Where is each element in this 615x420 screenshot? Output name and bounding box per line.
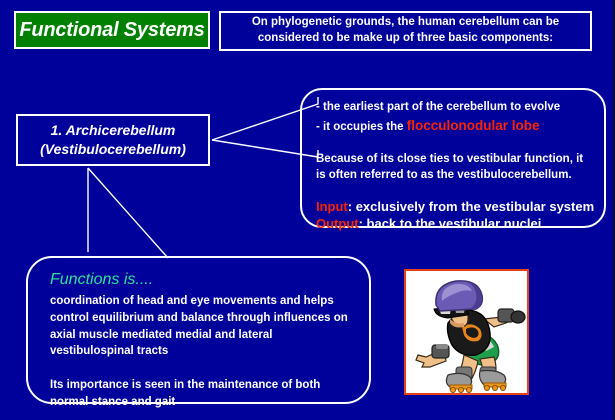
archicerebellum-box: 1. Archicerebellum (Vestibulocerebellum) <box>16 114 210 166</box>
intro-statement-text: On phylogenetic grounds, the human cereb… <box>229 15 582 46</box>
functions-heading: Functions is.... <box>50 270 355 289</box>
input-output-group: Input: exclusively from the vestibular s… <box>316 198 594 233</box>
page-title: Functional Systems <box>19 19 204 42</box>
detail-bullet-2-prefix: - it occupies the <box>316 121 407 133</box>
detail-input-line: Input: exclusively from the vestibular s… <box>316 198 594 216</box>
slide-title-box: Functional Systems <box>14 11 210 49</box>
input-label: Input <box>316 199 348 214</box>
functions-paragraph-1: coordination of head and eye movements a… <box>50 293 355 360</box>
detail-paragraph: Because of its close ties to vestibular … <box>316 151 594 183</box>
slide-canvas: Functional Systems On phylogenetic groun… <box>0 0 615 420</box>
archicerebellum-detail-box: - the earliest part of the cerebellum to… <box>300 88 606 228</box>
archicerebellum-subtitle: (Vestibulocerebellum) <box>40 140 186 159</box>
intro-statement-box: On phylogenetic grounds, the human cereb… <box>219 11 592 51</box>
input-value: : exclusively from the vestibular system <box>348 199 594 214</box>
detail-output-line: Output: back to the vestibular nuclei <box>316 215 594 233</box>
flocculonodular-lobe-highlight: flocculonodular lobe <box>407 118 540 133</box>
detail-bullet-1: - the earliest part of the cerebellum to… <box>316 99 594 116</box>
inline-skater-icon <box>406 271 527 393</box>
output-label: Output <box>316 216 359 231</box>
output-value: : back to the vestibular nuclei <box>359 216 542 231</box>
functions-box: Functions is.... coordination of head an… <box>26 256 371 404</box>
inline-skater-clipart-frame <box>404 269 529 395</box>
functions-paragraph-2: Its importance is seen in the maintenanc… <box>50 377 355 410</box>
archicerebellum-title: 1. Archicerebellum <box>51 121 176 140</box>
detail-bullet-2: - it occupies the flocculonodular lobe <box>316 116 594 136</box>
